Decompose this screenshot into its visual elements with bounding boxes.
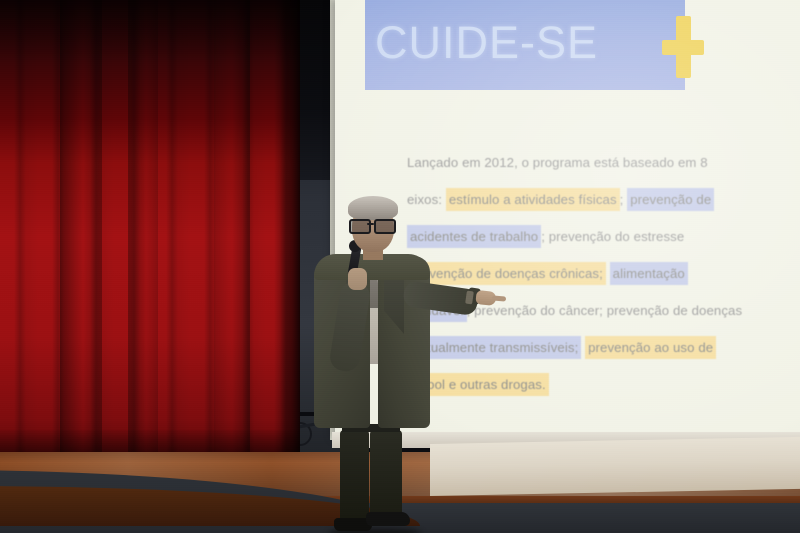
- curtain-fold: [60, 0, 102, 455]
- curtain-right-shadow: [274, 0, 300, 455]
- curtain-top-shadow: [0, 0, 300, 64]
- slide-title: CUIDE-SE: [375, 12, 695, 74]
- stage-curtain: [0, 0, 300, 455]
- presenter-mic-hand: [348, 268, 367, 290]
- slide-text-run: ;: [541, 229, 549, 244]
- slide-text-run: ; prevenção do câncer; prevenção de doen…: [467, 303, 743, 318]
- highlight-blue: alimentação: [610, 262, 688, 285]
- presenter: [300, 196, 490, 506]
- presenter-trouser-left: [340, 430, 369, 524]
- slide-text-run: Lançado em 2012, o programa está baseado…: [407, 155, 708, 170]
- curtain-fold: [128, 0, 158, 455]
- presenter-shoe-right: [366, 512, 410, 526]
- highlight-blue: prevenção de: [627, 188, 714, 211]
- highlight-yellow: prevenção ao uso de: [585, 336, 716, 359]
- curtain-fold: [214, 0, 250, 455]
- presenter-trouser-right: [370, 430, 402, 524]
- plus-icon: [662, 16, 704, 78]
- slide-text-line: Lançado em 2012, o programa está baseado…: [407, 144, 800, 181]
- presenter-hair: [348, 196, 398, 220]
- slide-text-run: prevenção do estresse: [549, 229, 685, 244]
- glasses-icon: [349, 219, 396, 230]
- presentation-photo: CUIDE-SE Lançado em 2012, o programa est…: [0, 0, 800, 533]
